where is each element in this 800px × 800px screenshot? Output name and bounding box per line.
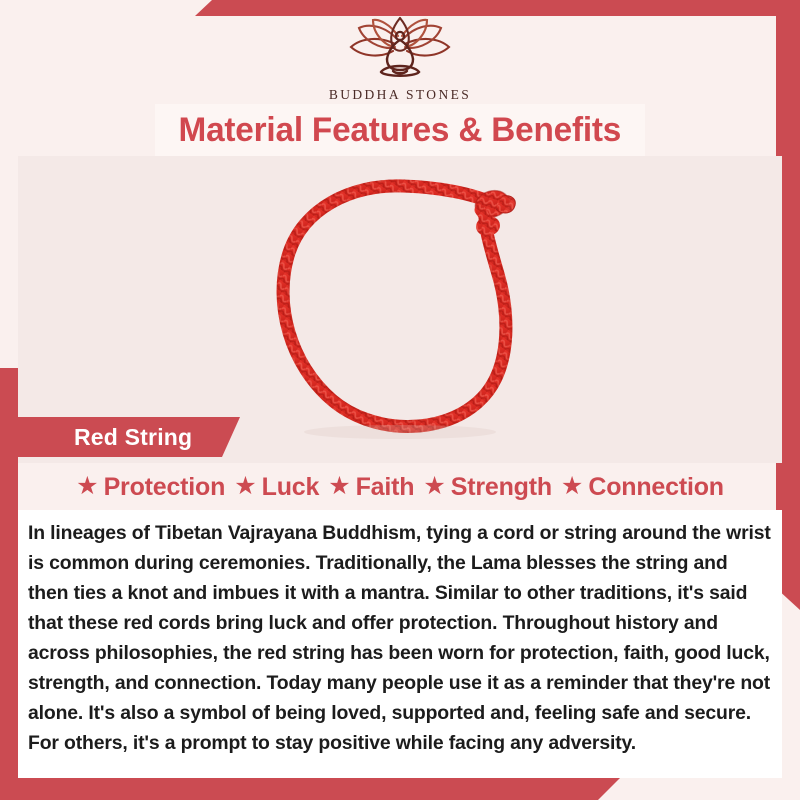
product-name-label: Red String (74, 424, 192, 451)
benefit-label: Faith (356, 475, 415, 500)
benefit-label: Strength (451, 475, 552, 500)
star-icon: ★ (76, 474, 98, 499)
star-icon: ★ (423, 474, 445, 499)
star-icon: ★ (328, 474, 350, 499)
benefit-label: Connection (588, 475, 724, 500)
frame-bottom-bar (0, 778, 620, 800)
benefit-item: ★ Strength (423, 475, 552, 500)
product-name-ribbon: Red String (18, 417, 240, 457)
benefit-label: Protection (104, 475, 226, 500)
benefits-row: ★ Protection ★ Luck ★ Faith ★ Strength ★… (0, 466, 800, 508)
benefit-item: ★ Faith (328, 475, 414, 500)
star-icon: ★ (234, 474, 256, 499)
benefit-item: ★ Luck (234, 475, 319, 500)
description-panel: In lineages of Tibetan Vajrayana Buddhis… (18, 510, 782, 778)
benefit-item: ★ Protection (76, 475, 225, 500)
page-title-band: Material Features & Benefits (155, 104, 645, 156)
brand-logo: BUDDHA STONES (0, 14, 800, 103)
benefit-label: Luck (262, 475, 320, 500)
brand-name: BUDDHA STONES (0, 87, 800, 103)
star-icon: ★ (561, 474, 583, 499)
product-image-panel (18, 156, 782, 463)
lotus-meditation-icon (0, 14, 800, 85)
infographic-poster: BUDDHA STONES Material Features & Benefi… (0, 0, 800, 800)
benefit-item: ★ Connection (561, 475, 724, 500)
red-string-bracelet-image (240, 164, 560, 463)
description-text: In lineages of Tibetan Vajrayana Buddhis… (18, 510, 782, 758)
page-title: Material Features & Benefits (179, 111, 622, 150)
frame-left-bar (0, 368, 18, 800)
